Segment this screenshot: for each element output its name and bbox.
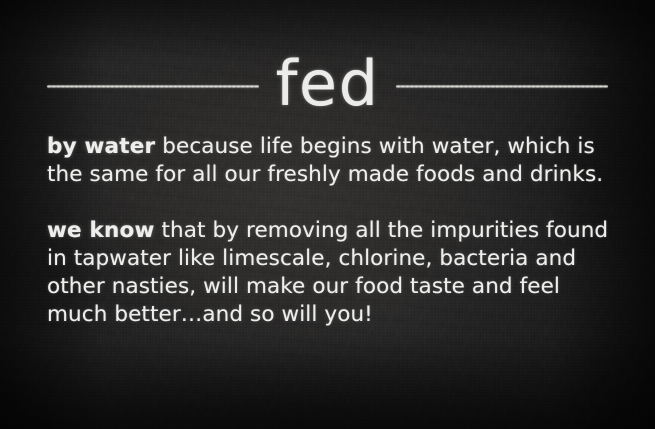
paragraph-lead-by-water: by water <box>47 134 155 159</box>
paragraph-by-water: by water because life begins with water,… <box>47 133 617 189</box>
chalkboard-panel: fed by water because life begins with wa… <box>0 0 655 429</box>
title-header: fed <box>47 55 608 117</box>
divider-left-rule <box>47 85 259 88</box>
divider-right-rule <box>396 85 608 88</box>
paragraph-we-know: we know that by removing all the impurit… <box>47 217 617 329</box>
body-copy: by water because life begins with water,… <box>47 133 617 329</box>
page-title: fed <box>276 53 380 119</box>
content-layer: fed by water because life begins with wa… <box>0 0 655 429</box>
paragraph-lead-we-know: we know <box>47 218 155 243</box>
